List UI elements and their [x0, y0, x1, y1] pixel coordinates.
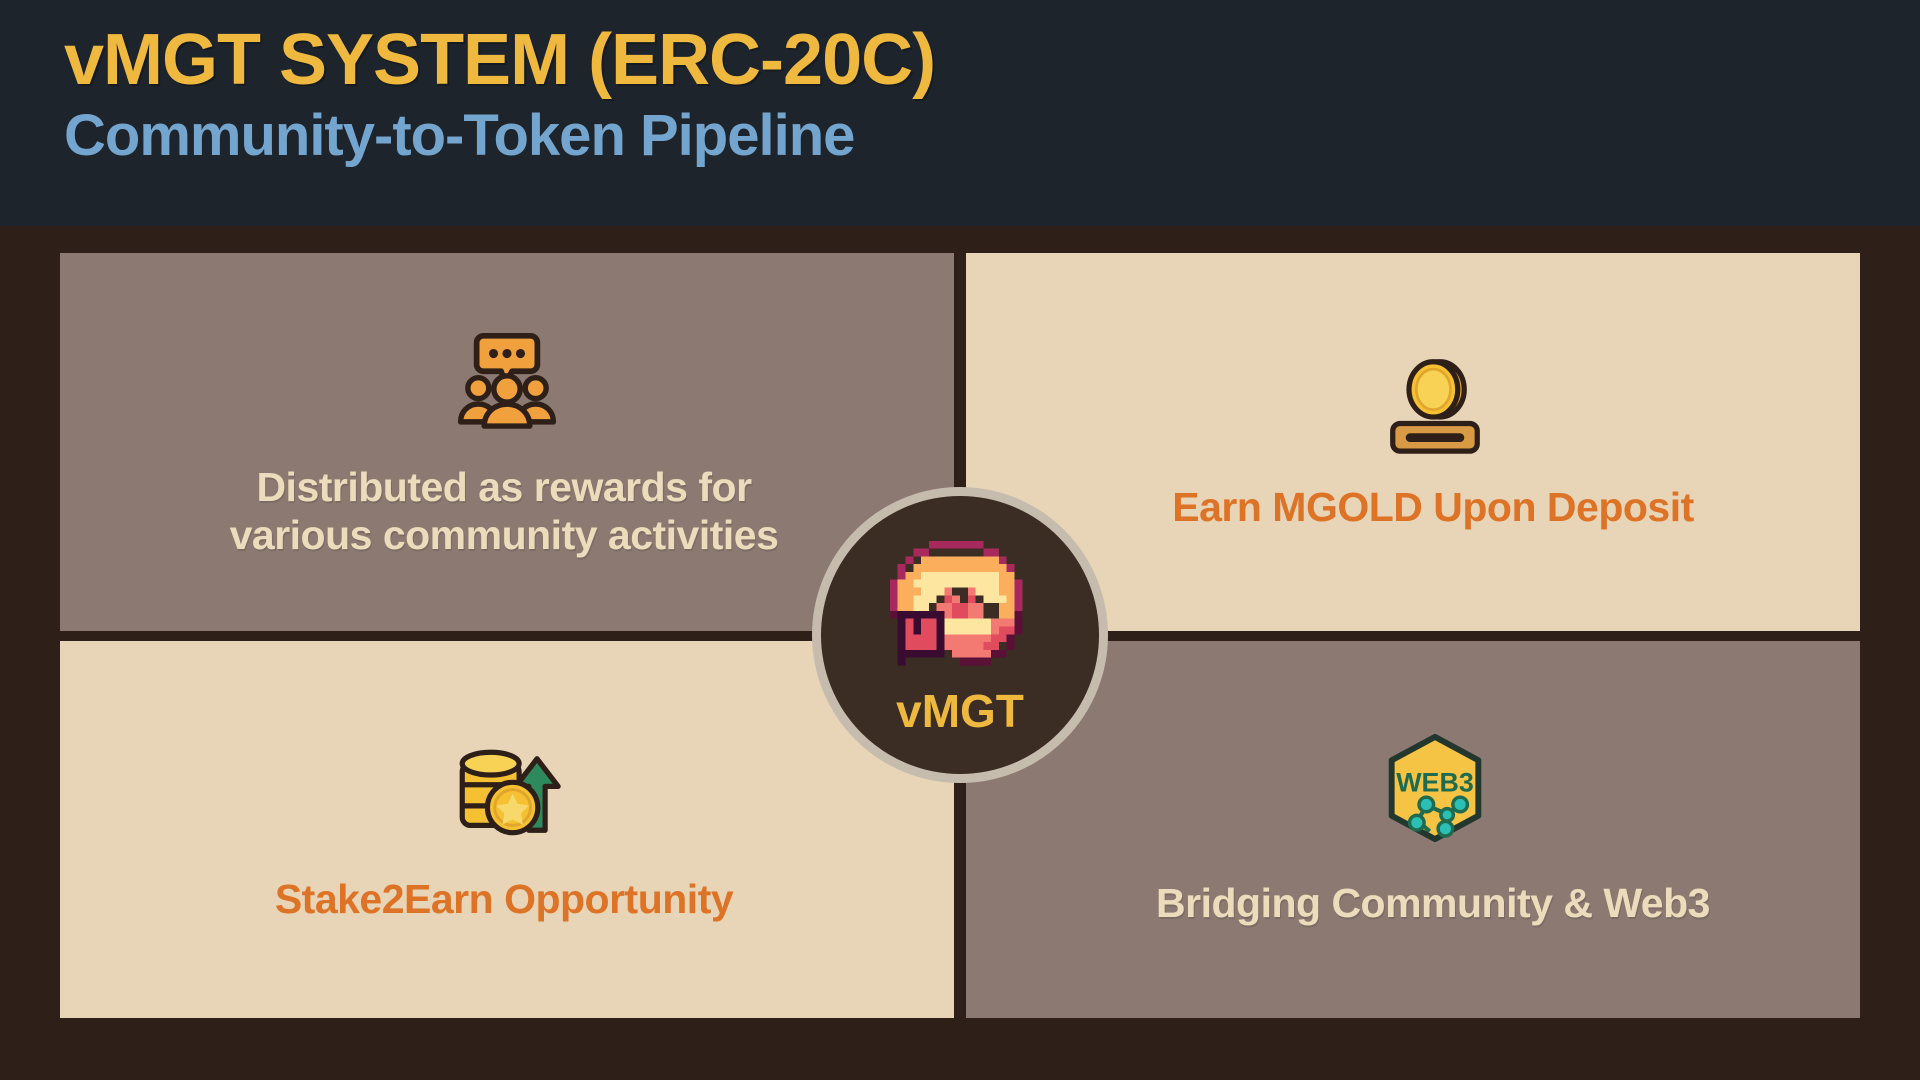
coin-deposit-slot-icon	[1383, 352, 1487, 461]
coin-stack-up-arrow-icon	[452, 736, 570, 845]
page-subtitle: Community-to-Token Pipeline	[64, 104, 1920, 169]
quadrant-label: Stake2Earn Opportunity	[275, 875, 733, 923]
web3-hexagon-network-icon: WEB3	[1383, 732, 1487, 849]
vmgt-badge-label: vMGT	[896, 688, 1024, 734]
quadrant-top-right[interactable]: Earn MGOLD Upon Deposit	[966, 253, 1860, 631]
community-people-chat-icon	[453, 324, 561, 437]
page-title: vMGT SYSTEM (ERC-20C)	[64, 22, 1920, 100]
quadrant-label: Distributed as rewards for various commu…	[230, 463, 779, 560]
quadrant-bottom-right[interactable]: WEB3 Bridging Community & Web3	[966, 641, 1860, 1019]
quadrant-label: Earn MGOLD Upon Deposit	[1172, 483, 1694, 531]
quadrant-bottom-left[interactable]: Stake2Earn Opportunity	[60, 641, 954, 1019]
vmgt-pixel-mascot-icon	[874, 533, 1046, 686]
quadrant-label: Bridging Community & Web3	[1156, 879, 1710, 927]
quadrant-top-left[interactable]: Distributed as rewards for various commu…	[60, 253, 954, 631]
header-banner: vMGT SYSTEM (ERC-20C) Community-to-Token…	[0, 0, 1920, 226]
infographic-root: vMGT SYSTEM (ERC-20C) Community-to-Token…	[0, 0, 1920, 1080]
web3-badge-text: WEB3	[1396, 767, 1474, 797]
vmgt-center-badge[interactable]: vMGT	[812, 487, 1108, 783]
